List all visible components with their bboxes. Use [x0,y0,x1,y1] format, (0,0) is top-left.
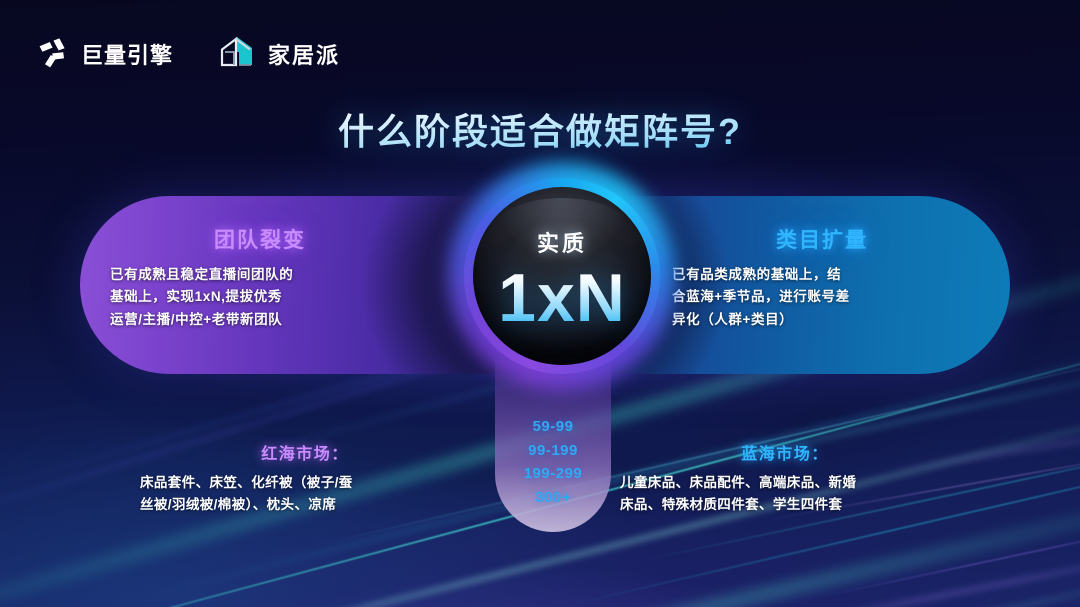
market-red-ocean-body: 床品套件、床笠、化纤被（被子/蚕 丝被/羽绒被/棉被）、枕头、凉席 [140,472,470,515]
sphere-label: 实质 [537,226,587,258]
logo-ocean-engine-label: 巨量引擎 [81,38,173,70]
panel-category-expansion-heading: 类目扩量 [672,224,972,254]
panel-line: 合蓝海+季节品，进行账号差 [672,289,850,304]
price-tier-item: 300+ [489,486,617,510]
market-blue-ocean: 蓝海市场： 儿童床品、床品配件、高端床品、新婚 床品、特殊材质四件套、学生四件套 [620,440,950,515]
light-streak [39,554,1080,607]
panel-team-fission-heading: 团队裂变 [110,224,410,254]
center-sphere: 实质 1xN [464,178,660,374]
logo-jiajupai-label: 家居派 [268,38,340,70]
light-streak [700,541,1080,607]
ocean-engine-pinwheel-icon [36,34,70,73]
panel-category-expansion: 类目扩量 已有品类成熟的基础上，结 合蓝海+季节品，进行账号差 异化（人群+类目… [672,224,972,331]
jiajupai-house-icon [217,34,257,73]
sphere-formula: 1xN [498,264,626,332]
panel-team-fission: 团队裂变 已有成熟且稳定直播间团队的 基础上，实现1xN,提拔优秀 运营/主播/… [110,224,410,331]
slide-canvas: 巨量引擎 家居派 什么阶段适合做矩阵号? 团队裂变 已有成熟且稳定直播间团队的 [0,0,1080,607]
sphere-content: 实质 1xN [464,178,660,374]
panel-line: 已有品类成熟的基础上，结 [672,267,841,282]
market-line: 儿童床品、床品配件、高端床品、新婚 [620,475,856,490]
market-blue-ocean-body: 儿童床品、床品配件、高端床品、新婚 床品、特殊材质四件套、学生四件套 [620,472,950,515]
logo-ocean-engine[interactable]: 巨量引擎 [36,34,173,73]
panel-line: 运营/主播/中控+老带新团队 [110,312,282,327]
panel-line: 异化（人群+类目） [672,312,793,327]
page-title: 什么阶段适合做矩阵号? [0,103,1080,155]
panel-team-fission-body: 已有成熟且稳定直播间团队的 基础上，实现1xN,提拔优秀 运营/主播/中控+老带… [110,264,410,331]
market-red-ocean: 红海市场： 床品套件、床笠、化纤被（被子/蚕 丝被/羽绒被/棉被）、枕头、凉席 [140,440,470,515]
market-red-ocean-heading: 红海市场： [140,440,470,464]
price-tier-item: 99-199 [489,439,617,463]
market-line: 床品套件、床笠、化纤被（被子/蚕 [140,475,353,490]
logo-jiajupai[interactable]: 家居派 [217,34,340,73]
price-tier-item: 199-299 [489,462,617,486]
panel-category-expansion-body: 已有品类成熟的基础上，结 合蓝海+季节品，进行账号差 异化（人群+类目） [672,264,972,331]
price-tier-list: 59-99 99-199 199-299 300+ [489,415,617,510]
market-blue-ocean-heading: 蓝海市场： [620,440,950,464]
header-logos: 巨量引擎 家居派 [36,34,340,73]
light-streak [820,521,1080,598]
panel-line: 已有成熟且稳定直播间团队的 [110,267,293,282]
panel-line: 基础上，实现1xN,提拔优秀 [110,289,282,304]
market-line: 床品、特殊材质四件套、学生四件套 [620,497,842,512]
market-line: 丝被/羽绒被/棉被）、枕头、凉席 [140,497,336,512]
price-tier-item: 59-99 [489,415,617,439]
